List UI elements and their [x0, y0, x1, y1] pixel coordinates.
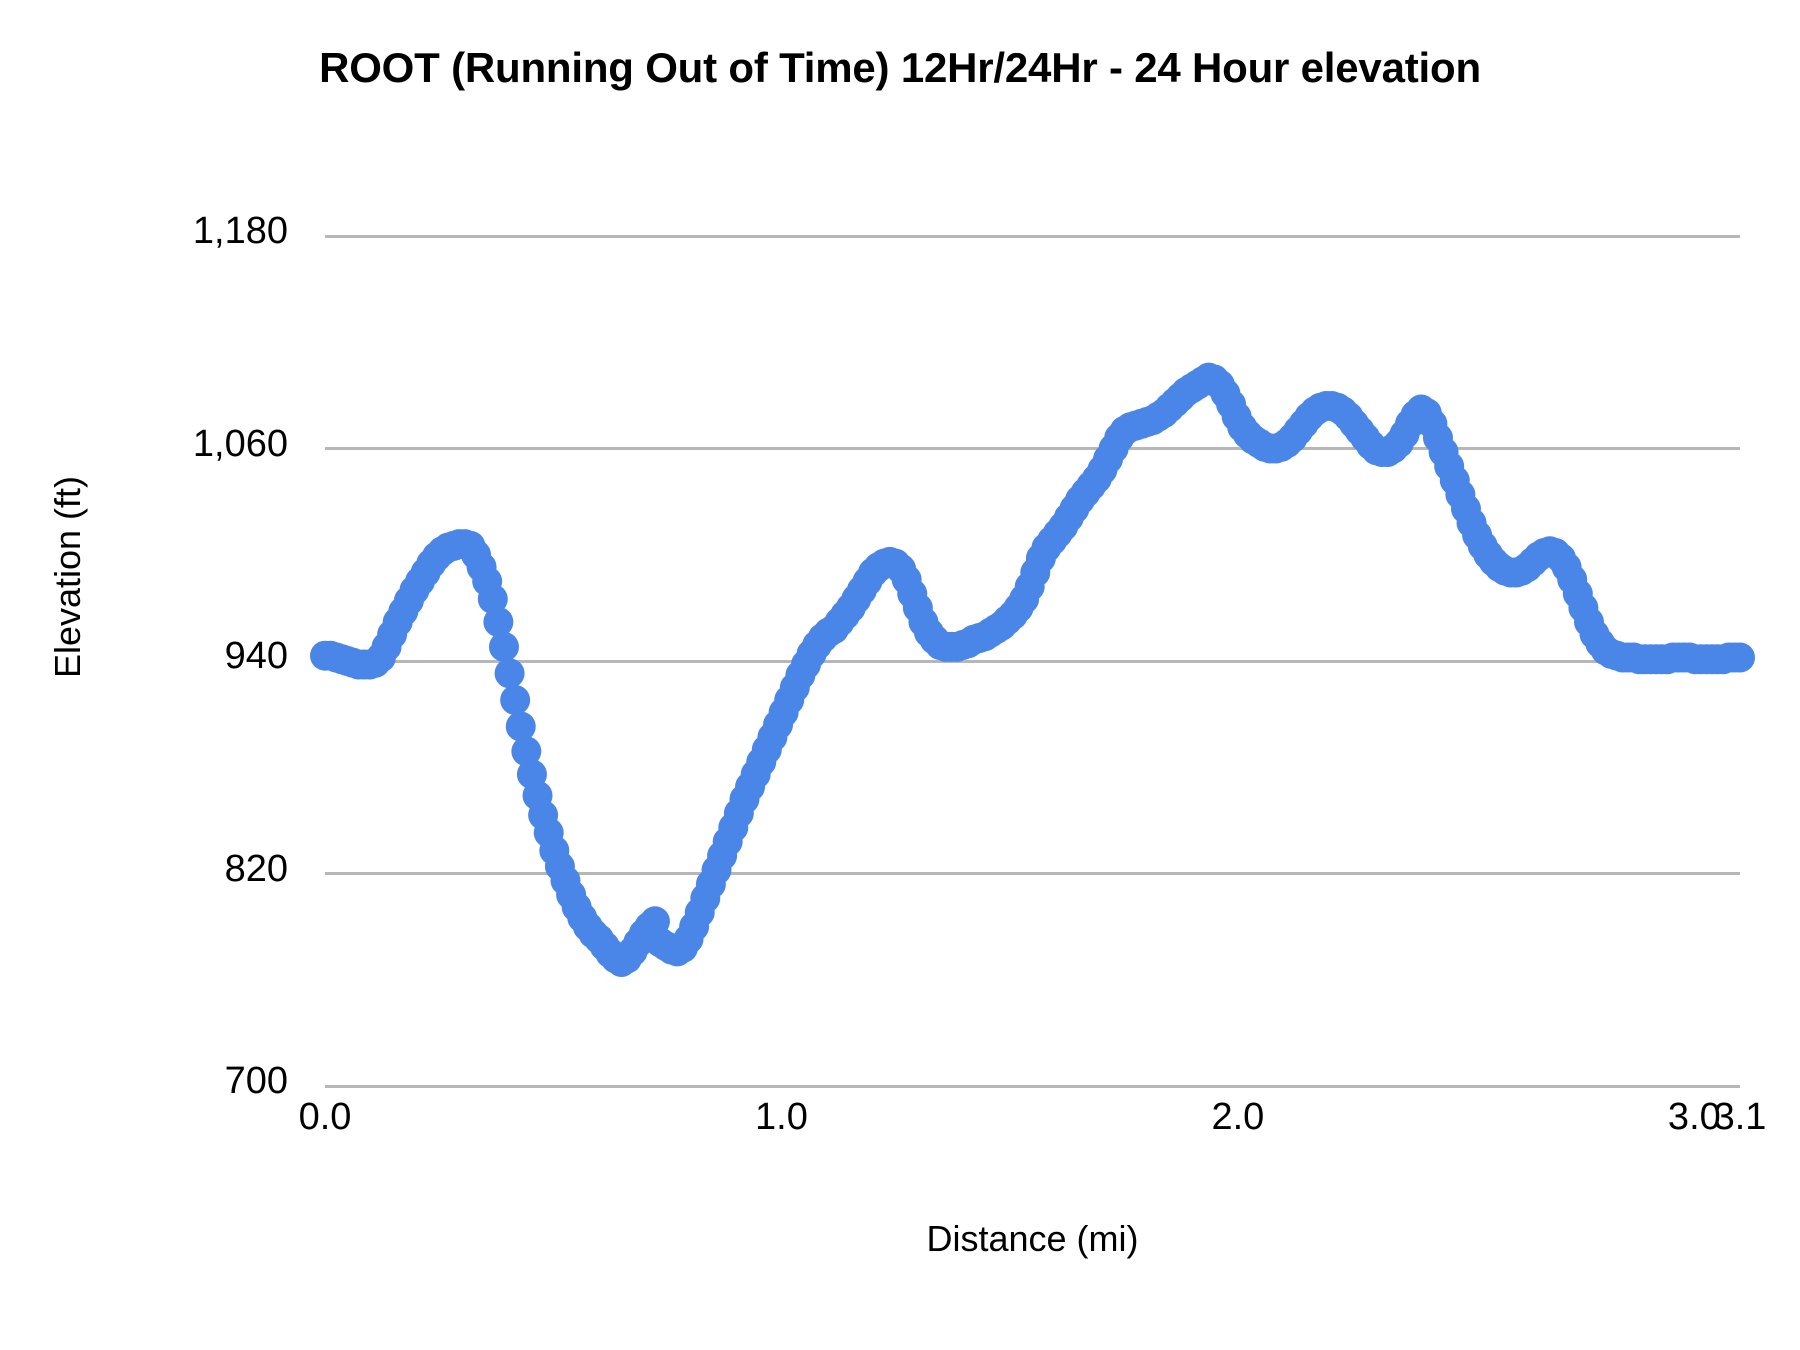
chart-title: ROOT (Running Out of Time) 12Hr/24Hr - 2… [0, 44, 1800, 92]
elevation-series [285, 196, 1780, 1126]
data-point [495, 658, 525, 688]
y-tick-label: 700 [0, 1060, 288, 1103]
y-tick-label: 940 [0, 635, 288, 678]
y-tick-label: 1,180 [0, 210, 288, 253]
data-point [506, 712, 536, 742]
elevation-chart: ROOT (Running Out of Time) 12Hr/24Hr - 2… [0, 0, 1800, 1350]
plot-area [325, 236, 1740, 1086]
data-point [483, 607, 513, 637]
data-point [489, 632, 519, 662]
data-point [1725, 642, 1755, 672]
x-axis-title: Distance (mi) [325, 1218, 1740, 1260]
y-axis-title: Elevation (ft) [47, 257, 89, 897]
series-line [325, 378, 1740, 962]
data-point [500, 685, 530, 715]
y-tick-label: 1,060 [0, 423, 288, 466]
y-tick-label: 820 [0, 848, 288, 891]
